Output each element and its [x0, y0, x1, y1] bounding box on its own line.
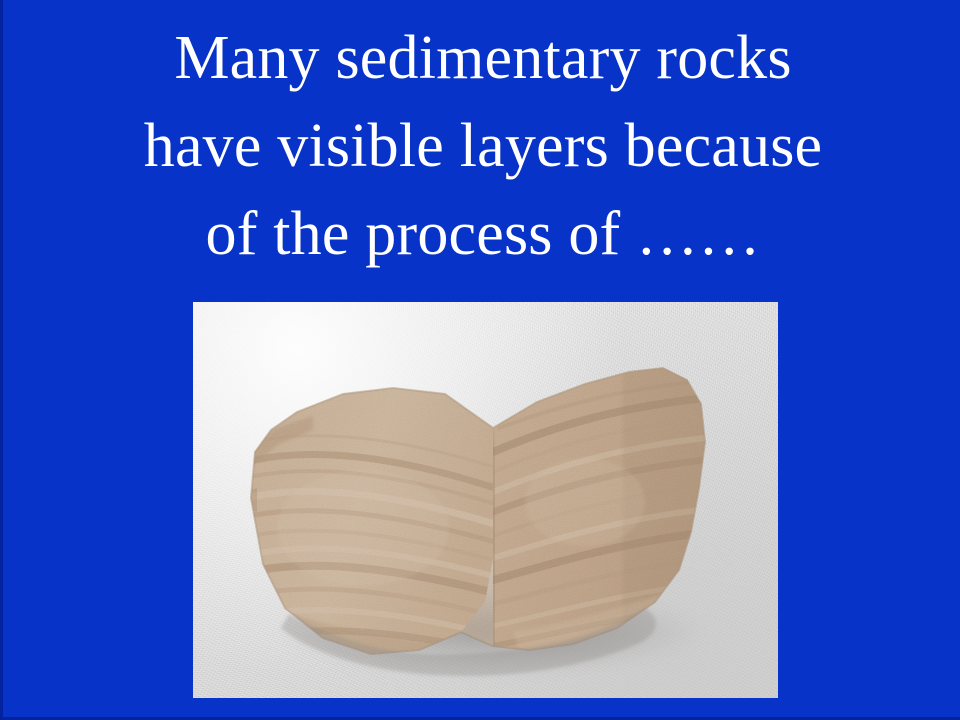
rock-body [233, 352, 718, 676]
title-line-1: Many sedimentary rocks [3, 14, 960, 102]
rock-grain-texture [251, 368, 705, 654]
sedimentary-rock-illustration [193, 302, 778, 698]
title-line-3: of the process of …… [3, 190, 960, 278]
rock-photo [193, 302, 778, 698]
slide-canvas: Many sedimentary rocks have visible laye… [0, 0, 960, 720]
slide-title: Many sedimentary rocks have visible laye… [3, 14, 960, 278]
title-line-2: have visible layers because [3, 102, 960, 190]
